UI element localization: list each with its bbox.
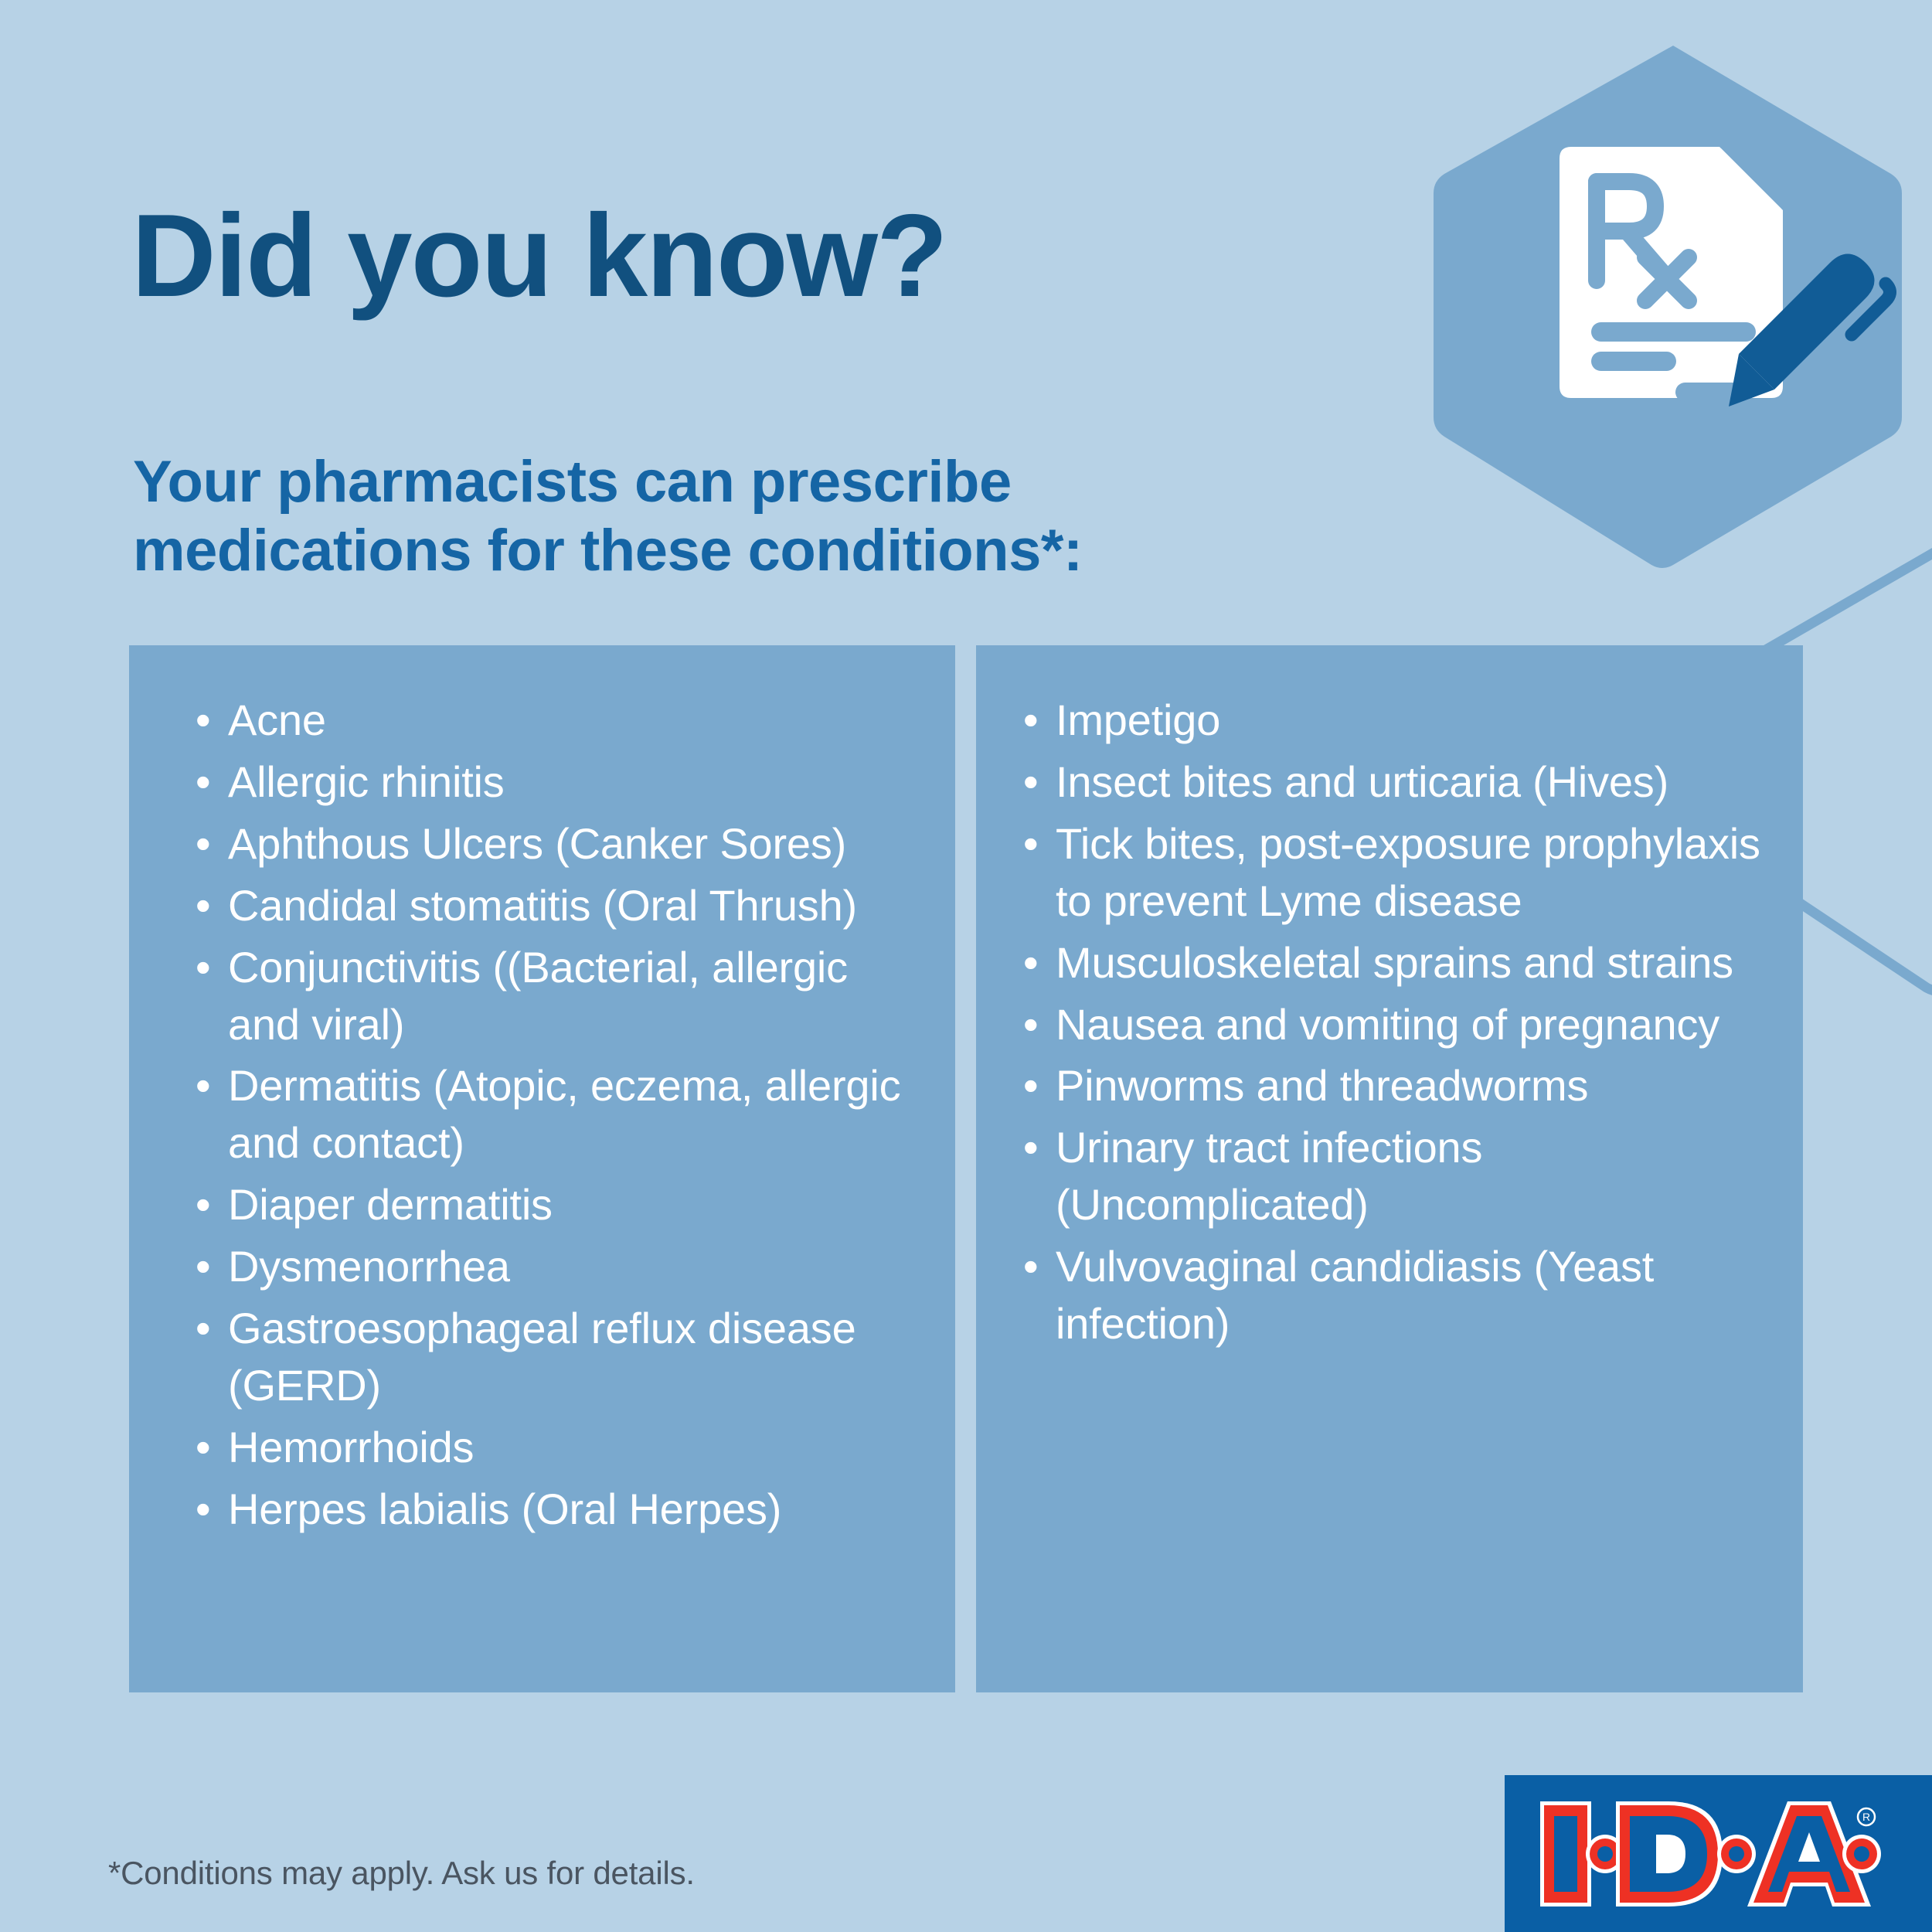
condition-label: Allergic rhinitis: [228, 757, 505, 806]
bullet-icon: •: [196, 692, 210, 749]
condition-item: •Conjunctivitis ((Bacterial, allergic an…: [191, 939, 910, 1053]
condition-item: •Nausea and vomiting of pregnancy: [1019, 996, 1784, 1053]
condition-label: Impetigo: [1056, 696, 1220, 744]
bullet-icon: •: [196, 815, 210, 872]
registered-trademark-icon: R: [1858, 1808, 1875, 1825]
bullet-icon: •: [196, 1419, 210, 1476]
subtitle-line-1: Your pharmacists can prescribe: [133, 448, 1083, 517]
condition-item: •Impetigo: [1019, 692, 1784, 749]
bullet-icon: •: [1023, 996, 1038, 1053]
condition-item: •Tick bites, post-exposure prophylaxis t…: [1019, 815, 1784, 930]
infographic-canvas: Did you know? Your pharmacists can presc…: [0, 0, 1932, 1932]
bullet-icon: •: [1023, 753, 1038, 811]
prescription-rx-icon: [1434, 35, 1913, 576]
condition-label: Tick bites, post-exposure prophylaxis to…: [1056, 819, 1760, 925]
condition-item: •Dermatitis (Atopic, eczema, allergic an…: [191, 1057, 910, 1172]
condition-item: •Allergic rhinitis: [191, 753, 910, 811]
bullet-icon: •: [1023, 1238, 1038, 1295]
bullet-icon: •: [196, 1481, 210, 1538]
bullet-icon: •: [196, 1057, 210, 1114]
pen-icon: [1729, 254, 1890, 407]
bullet-icon: •: [1023, 1057, 1038, 1114]
condition-label: Diaper dermatitis: [228, 1180, 553, 1229]
condition-label: Urinary tract infections (Uncomplicated): [1056, 1123, 1482, 1229]
svg-text:R: R: [1862, 1811, 1870, 1823]
condition-label: Dysmenorrhea: [228, 1242, 510, 1291]
condition-label: Conjunctivitis ((Bacterial, allergic and…: [228, 943, 848, 1049]
condition-item: •Candidal stomatitis (Oral Thrush): [191, 877, 910, 934]
page-subtitle: Your pharmacists can prescribe medicatio…: [133, 448, 1083, 586]
bullet-icon: •: [1023, 692, 1038, 749]
bullet-icon: •: [1023, 1119, 1038, 1176]
ida-logo-mark: R: [1539, 1800, 1886, 1908]
bullet-icon: •: [196, 877, 210, 934]
bullet-icon: •: [196, 1238, 210, 1295]
condition-item: •Insect bites and urticaria (Hives): [1019, 753, 1784, 811]
bullet-icon: •: [196, 1300, 210, 1357]
ida-logo: R: [1505, 1775, 1932, 1932]
conditions-list-left: •Acne•Allergic rhinitis•Aphthous Ulcers …: [191, 692, 910, 1543]
condition-label: Aphthous Ulcers (Canker Sores): [228, 819, 846, 868]
bullet-icon: •: [196, 1176, 210, 1233]
condition-label: Vulvovaginal candidiasis (Yeast infectio…: [1056, 1242, 1654, 1348]
condition-item: •Gastroesophageal reflux disease (GERD): [191, 1300, 910, 1414]
condition-item: •Diaper dermatitis: [191, 1176, 910, 1233]
page-title: Did you know?: [131, 195, 947, 318]
condition-item: •Musculoskeletal sprains and strains: [1019, 934, 1784, 992]
condition-label: Nausea and vomiting of pregnancy: [1056, 1000, 1719, 1049]
condition-label: Musculoskeletal sprains and strains: [1056, 938, 1733, 987]
condition-label: Acne: [228, 696, 326, 744]
condition-label: Insect bites and urticaria (Hives): [1056, 757, 1668, 806]
condition-item: •Pinworms and threadworms: [1019, 1057, 1784, 1114]
condition-label: Herpes labialis (Oral Herpes): [228, 1485, 781, 1533]
prescription-document: [1560, 147, 1783, 398]
condition-label: Gastroesophageal reflux disease (GERD): [228, 1304, 856, 1410]
condition-item: •Acne: [191, 692, 910, 749]
condition-item: •Aphthous Ulcers (Canker Sores): [191, 815, 910, 872]
condition-item: •Herpes labialis (Oral Herpes): [191, 1481, 910, 1538]
bullet-icon: •: [196, 753, 210, 811]
subtitle-line-2: medications for these conditions*:: [133, 517, 1083, 586]
rx-symbol: [1597, 182, 1689, 301]
document-lines: [1591, 322, 1756, 402]
bullet-icon: •: [1023, 815, 1038, 872]
condition-item: •Hemorrhoids: [191, 1419, 910, 1476]
bullet-icon: •: [196, 939, 210, 996]
condition-item: •Urinary tract infections (Uncomplicated…: [1019, 1119, 1784, 1233]
conditions-card-left: •Acne•Allergic rhinitis•Aphthous Ulcers …: [129, 645, 955, 1692]
condition-item: •Dysmenorrhea: [191, 1238, 910, 1295]
condition-label: Pinworms and threadworms: [1056, 1061, 1588, 1110]
footnote-text: *Conditions may apply. Ask us for detail…: [108, 1855, 695, 1892]
bullet-icon: •: [1023, 934, 1038, 992]
condition-item: •Vulvovaginal candidiasis (Yeast infecti…: [1019, 1238, 1784, 1352]
hexagon-shape: [1434, 46, 1902, 568]
conditions-card-right: •Impetigo•Insect bites and urticaria (Hi…: [976, 645, 1803, 1692]
condition-label: Candidal stomatitis (Oral Thrush): [228, 881, 857, 930]
condition-label: Dermatitis (Atopic, eczema, allergic and…: [228, 1061, 900, 1167]
condition-label: Hemorrhoids: [228, 1423, 474, 1471]
conditions-list-right: •Impetigo•Insect bites and urticaria (Hi…: [1019, 692, 1784, 1357]
